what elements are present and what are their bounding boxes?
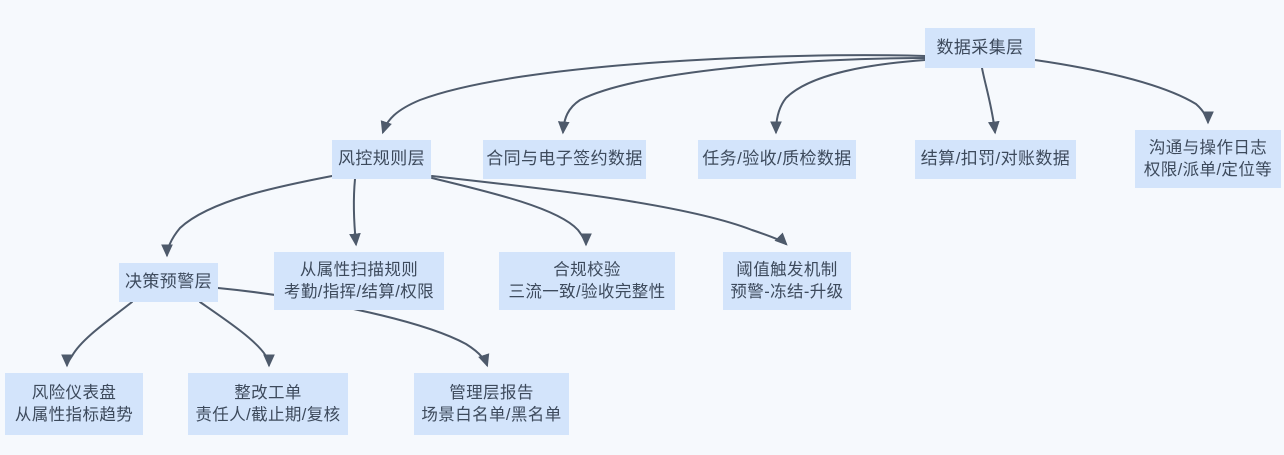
node-label-secondary: 责任人/截止期/复核 <box>195 404 340 426</box>
node-label-secondary: 三流一致/验收完整性 <box>508 281 665 303</box>
node-compliance-verification[interactable]: 合规校验三流一致/验收完整性 <box>499 252 675 310</box>
flowchart-canvas: 数据采集层风控规则层合同与电子签约数据任务/验收/质检数据结算/扣罚/对账数据沟… <box>0 0 1284 455</box>
node-task-acceptance-qc-data[interactable]: 任务/验收/质检数据 <box>698 140 856 179</box>
node-label-primary: 决策预警层 <box>125 271 212 294</box>
node-subordinate-attribute-scan-rule[interactable]: 从属性扫描规则考勤/指挥/结算/权限 <box>274 252 444 310</box>
edge-collect-to-settlement <box>982 68 995 132</box>
node-management-report[interactable]: 管理层报告场景白名单/黑名单 <box>414 373 569 435</box>
edge-decision-to-dashboard <box>67 302 132 365</box>
node-label-primary: 结算/扣罚/对账数据 <box>921 148 1070 171</box>
edge-collect-to-risk-rules <box>383 55 925 132</box>
node-decision-alert-layer[interactable]: 决策预警层 <box>119 263 218 302</box>
node-communication-and-operation-log[interactable]: 沟通与操作日志权限/派单/定位等 <box>1135 130 1281 188</box>
node-risk-dashboard[interactable]: 风险仪表盘从属性指标趋势 <box>5 373 143 435</box>
node-label-primary: 合同与电子签约数据 <box>486 148 643 171</box>
edge-risk-rules-to-compliance <box>432 178 586 244</box>
node-label-primary: 风险仪表盘 <box>32 382 117 404</box>
node-label-primary: 沟通与操作日志 <box>1149 137 1267 159</box>
edge-collect-to-contract <box>563 58 925 132</box>
node-risk-control-rule-layer[interactable]: 风控规则层 <box>332 140 431 179</box>
edge-risk-rules-to-attr-scan <box>354 179 356 244</box>
node-rectification-work-order[interactable]: 整改工单责任人/截止期/复核 <box>188 373 348 435</box>
node-contract-and-esign-data[interactable]: 合同与电子签约数据 <box>483 140 646 179</box>
node-label-secondary: 场景白名单/黑名单 <box>421 404 561 426</box>
node-label-secondary: 从属性指标趋势 <box>15 404 133 426</box>
node-label-primary: 风控规则层 <box>338 148 425 171</box>
node-label-secondary: 预警-冻结-升级 <box>730 281 843 303</box>
node-label-primary: 数据采集层 <box>937 37 1024 60</box>
edge-collect-to-log <box>1035 60 1208 122</box>
node-label-secondary: 权限/派单/定位等 <box>1144 159 1272 181</box>
edge-risk-rules-to-threshold <box>432 176 786 244</box>
node-label-primary: 整改工单 <box>234 382 302 404</box>
node-label-primary: 管理层报告 <box>449 382 534 404</box>
node-label-secondary: 考勤/指挥/结算/权限 <box>284 281 434 303</box>
node-settlement-penalty-reconciliation-data[interactable]: 结算/扣罚/对账数据 <box>915 140 1076 179</box>
node-label-primary: 合规校验 <box>553 259 621 281</box>
edge-risk-rules-to-decision <box>167 176 332 255</box>
node-label-primary: 任务/验收/质检数据 <box>702 148 851 171</box>
edge-collect-to-task <box>776 60 925 132</box>
edge-decision-to-worktask <box>200 302 269 365</box>
node-data-collection-layer[interactable]: 数据采集层 <box>925 28 1035 68</box>
node-threshold-trigger-mechanism[interactable]: 阈值触发机制预警-冻结-升级 <box>723 252 851 310</box>
node-label-primary: 从属性扫描规则 <box>300 259 418 281</box>
node-label-primary: 阈值触发机制 <box>736 259 837 281</box>
